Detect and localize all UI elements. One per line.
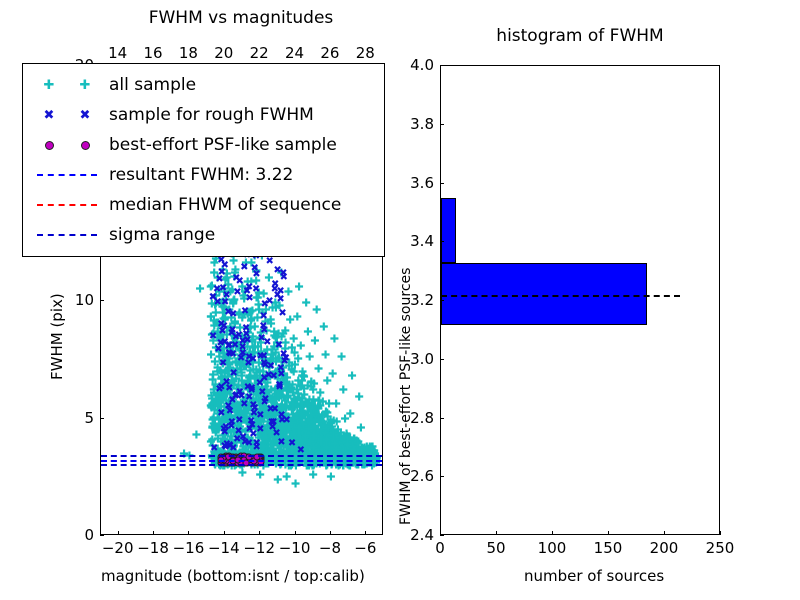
cross-marker-icon: ✖✖ (31, 109, 103, 122)
rough-sample-point: ✖ (265, 297, 273, 307)
left-panel-title: FWHM vs magnitudes (149, 8, 334, 28)
legend-item-rough-fwhm: ✖✖ sample for rough FWHM (31, 100, 376, 130)
legend-label: median FHWM of sequence (103, 195, 341, 215)
all-sample-point: ✚ (294, 353, 303, 364)
rough-sample-point: ✖ (219, 359, 227, 369)
x-tick-bottom (118, 531, 119, 535)
y-tick (440, 241, 444, 242)
y-tick (440, 476, 444, 477)
x-tick (608, 531, 609, 535)
rough-sample-point: ✖ (236, 388, 244, 398)
x-ticklabel-bottom: −14 (208, 539, 240, 557)
y-ticklabel: 3.0 (410, 350, 434, 368)
x-tick-bottom (295, 531, 296, 535)
rough-sample-point: ✖ (209, 293, 217, 303)
rough-sample-point: ✖ (217, 383, 225, 393)
y-ticklabel: 3.8 (410, 115, 434, 133)
y-tick (440, 183, 444, 184)
all-sample-point: ✚ (326, 472, 335, 483)
all-sample-point: ✚ (298, 416, 307, 427)
all-sample-point: ✚ (310, 335, 319, 346)
rough-sample-point: ✖ (231, 341, 239, 351)
rough-sample-point: ✖ (278, 416, 286, 426)
rough-sample-point: ✖ (244, 359, 252, 369)
legend-item-sigma-range: sigma range (31, 220, 376, 250)
all-sample-point: ✚ (348, 371, 357, 382)
rough-sample-point: ✖ (279, 269, 287, 279)
y-tick (440, 535, 444, 536)
rough-sample-point: ✖ (217, 409, 225, 419)
y-ticklabel: 5 (84, 409, 94, 427)
legend-label: sigma range (103, 225, 215, 245)
rough-sample-point: ✖ (220, 442, 228, 452)
all-sample-point: ✚ (284, 286, 293, 297)
histogram-bar (441, 263, 647, 325)
legend-box: ✚✚ all sample ✖✖ sample for rough FWHM b… (22, 63, 385, 257)
rough-sample-point: ✖ (240, 400, 248, 410)
y-ticklabel: 10 (75, 291, 94, 309)
all-sample-point: ✚ (294, 281, 303, 292)
rough-sample-point: ✖ (271, 280, 279, 290)
dot-marker-icon (31, 141, 103, 150)
all-sample-point: ✚ (337, 352, 346, 363)
rough-sample-point: ✖ (257, 334, 265, 344)
all-sample-point: ✚ (302, 298, 311, 309)
rough-sample-point: ✖ (266, 257, 274, 267)
x-tick-bottom (330, 531, 331, 535)
all-sample-point: ✚ (291, 479, 300, 490)
y-ticklabel: 3.6 (410, 174, 434, 192)
rough-sample-point: ✖ (221, 298, 229, 308)
x-ticklabel-bottom: −10 (279, 539, 311, 557)
x-ticklabel-bottom: −16 (173, 539, 205, 557)
x-tick-bottom (153, 531, 154, 535)
legend-item-median-fhwm: median FHWM of sequence (31, 190, 376, 220)
rough-sample-point: ✖ (271, 405, 279, 415)
legend-item-all-sample: ✚✚ all sample (31, 70, 376, 100)
rough-sample-point: ✖ (256, 411, 264, 421)
y-tick (440, 359, 444, 360)
rough-sample-point: ✖ (228, 396, 236, 406)
y-tick (440, 124, 444, 125)
x-tick-bottom (259, 531, 260, 535)
legend-label: resultant FWHM: 3.22 (103, 165, 293, 185)
rough-sample-point: ✖ (260, 359, 268, 369)
y-tick (440, 418, 444, 419)
all-sample-point: ✚ (192, 429, 201, 440)
y-ticklabel: 3.2 (410, 291, 434, 309)
rough-sample-point: ✖ (288, 439, 296, 449)
rough-sample-point: ✖ (232, 274, 240, 284)
legend-label: all sample (103, 75, 196, 95)
dashed-blue-line-icon (31, 174, 103, 176)
sigma-range-upper-line (101, 455, 382, 457)
histogram-bar (441, 198, 456, 263)
rough-sample-point: ✖ (250, 264, 258, 274)
rough-sample-point: ✖ (226, 407, 234, 417)
x-ticklabel-top: 22 (250, 44, 269, 62)
rough-sample-point: ✖ (260, 374, 268, 384)
all-sample-point: ✚ (339, 385, 348, 396)
x-ticklabel: 150 (594, 539, 623, 557)
all-sample-point: ✚ (355, 392, 364, 403)
x-ticklabel: 0 (435, 539, 445, 557)
rough-sample-point: ✖ (268, 418, 276, 428)
x-ticklabel-top: 14 (108, 44, 127, 62)
y-tick (440, 300, 444, 301)
rough-sample-point: ✖ (256, 425, 264, 435)
all-sample-point: ✚ (346, 408, 355, 419)
rough-sample-point: ✖ (227, 422, 235, 432)
x-tick (720, 531, 721, 535)
rough-sample-point: ✖ (218, 268, 226, 278)
all-sample-point: ✚ (321, 350, 330, 361)
y-ticklabel: 3.4 (410, 232, 434, 250)
x-tick-bottom (365, 531, 366, 535)
x-ticklabel: 50 (486, 539, 505, 557)
rough-sample-point: ✖ (275, 381, 283, 391)
all-sample-point: ✚ (330, 333, 339, 344)
rough-sample-point: ✖ (259, 322, 267, 332)
rough-sample-point: ✖ (280, 350, 288, 360)
all-sample-point: ✚ (305, 352, 314, 363)
all-sample-point: ✚ (318, 396, 327, 407)
y-tick (440, 65, 444, 66)
x-ticklabel-top: 26 (320, 44, 339, 62)
x-ticklabel-top: 28 (356, 44, 375, 62)
legend-item-resultant-fwhm: resultant FWHM: 3.22 (31, 160, 376, 190)
x-ticklabel-top: 16 (144, 44, 163, 62)
y-ticklabel: 2.8 (410, 409, 434, 427)
x-tick-bottom (224, 531, 225, 535)
x-ticklabel: 200 (650, 539, 679, 557)
left-panel-ylabel: FWHM (pix) (48, 293, 66, 380)
right-panel-title: histogram of FWHM (496, 26, 663, 46)
resultant-fwhm-dashed-line (441, 295, 680, 297)
x-ticklabel: 100 (538, 539, 567, 557)
y-ticklabel: 2.6 (410, 467, 434, 485)
sigma-range-lower-line (101, 464, 382, 466)
rough-sample-point: ✖ (241, 438, 249, 448)
resultant-fwhm-line (101, 460, 382, 462)
rough-sample-point: ✖ (218, 327, 226, 337)
rough-sample-point: ✖ (253, 443, 261, 453)
rough-sample-point: ✖ (241, 307, 249, 317)
x-tick-bottom (188, 531, 189, 535)
all-sample-point: ✚ (307, 376, 316, 387)
x-ticklabel-top: 20 (214, 44, 233, 62)
legend-item-psf-sample: best-effort PSF-like sample (31, 130, 376, 160)
dashed-red-line-icon (31, 204, 103, 206)
x-ticklabel-bottom: −6 (354, 539, 376, 557)
rough-sample-point: ✖ (225, 384, 233, 394)
all-sample-point: ✚ (312, 305, 321, 316)
x-ticklabel-bottom: −20 (102, 539, 134, 557)
rough-sample-point: ✖ (270, 372, 278, 382)
y-ticklabel: 0 (84, 526, 94, 544)
y-ticklabel: 2.4 (410, 526, 434, 544)
y-tick (100, 535, 104, 536)
y-tick (100, 300, 104, 301)
legend-label: sample for rough FWHM (103, 105, 314, 125)
all-sample-point: ✚ (206, 312, 215, 323)
all-sample-point: ✚ (282, 472, 291, 483)
histogram-plot-area (441, 66, 719, 534)
rough-sample-point: ✖ (240, 263, 248, 273)
x-tick (496, 531, 497, 535)
x-ticklabel: 250 (706, 539, 735, 557)
rough-sample-point: ✖ (276, 295, 284, 305)
plus-marker-icon: ✚✚ (31, 79, 103, 92)
all-sample-point: ✚ (332, 399, 341, 410)
rough-sample-point: ✖ (243, 287, 251, 297)
all-sample-point: ✚ (209, 422, 218, 433)
rough-sample-point: ✖ (277, 438, 285, 448)
all-sample-point: ✚ (316, 426, 325, 437)
rough-sample-point: ✖ (233, 288, 241, 298)
rough-sample-point: ✖ (278, 309, 286, 319)
x-ticklabel-bottom: −12 (243, 539, 275, 557)
left-panel-xlabel: magnitude (bottom:isnt / top:calib) (101, 567, 365, 585)
rough-sample-point: ✖ (235, 416, 243, 426)
rough-sample-point: ✖ (229, 310, 237, 320)
x-ticklabel-top: 18 (179, 44, 198, 62)
all-sample-point: ✚ (289, 333, 298, 344)
rough-sample-point: ✖ (247, 417, 255, 427)
x-tick (552, 531, 553, 535)
all-sample-point: ✚ (273, 474, 282, 485)
all-sample-point: ✚ (307, 409, 316, 420)
right-panel-xlabel: number of sources (524, 567, 664, 585)
y-ticklabel: 4.0 (410, 56, 434, 74)
all-sample-point: ✚ (229, 256, 238, 267)
right-histogram-axes (440, 65, 720, 535)
all-sample-point: ✚ (319, 321, 328, 332)
rough-sample-point: ✖ (275, 341, 283, 351)
dash-dot-blue-line-icon (31, 234, 103, 236)
x-ticklabel-bottom: −18 (137, 539, 169, 557)
rough-sample-point: ✖ (210, 444, 218, 454)
x-tick (664, 531, 665, 535)
y-tick (100, 418, 104, 419)
all-sample-point: ✚ (328, 368, 337, 379)
all-sample-point: ✚ (195, 284, 204, 295)
all-sample-point: ✚ (314, 364, 323, 375)
figure-canvas: FWHM vs magnitudes FWHM (pix) magnitude … (0, 0, 800, 600)
x-ticklabel-bottom: −8 (319, 539, 341, 557)
legend-label: best-effort PSF-like sample (103, 135, 337, 155)
rough-sample-point: ✖ (216, 339, 224, 349)
all-sample-point: ✚ (293, 312, 302, 323)
x-ticklabel-top: 24 (285, 44, 304, 62)
